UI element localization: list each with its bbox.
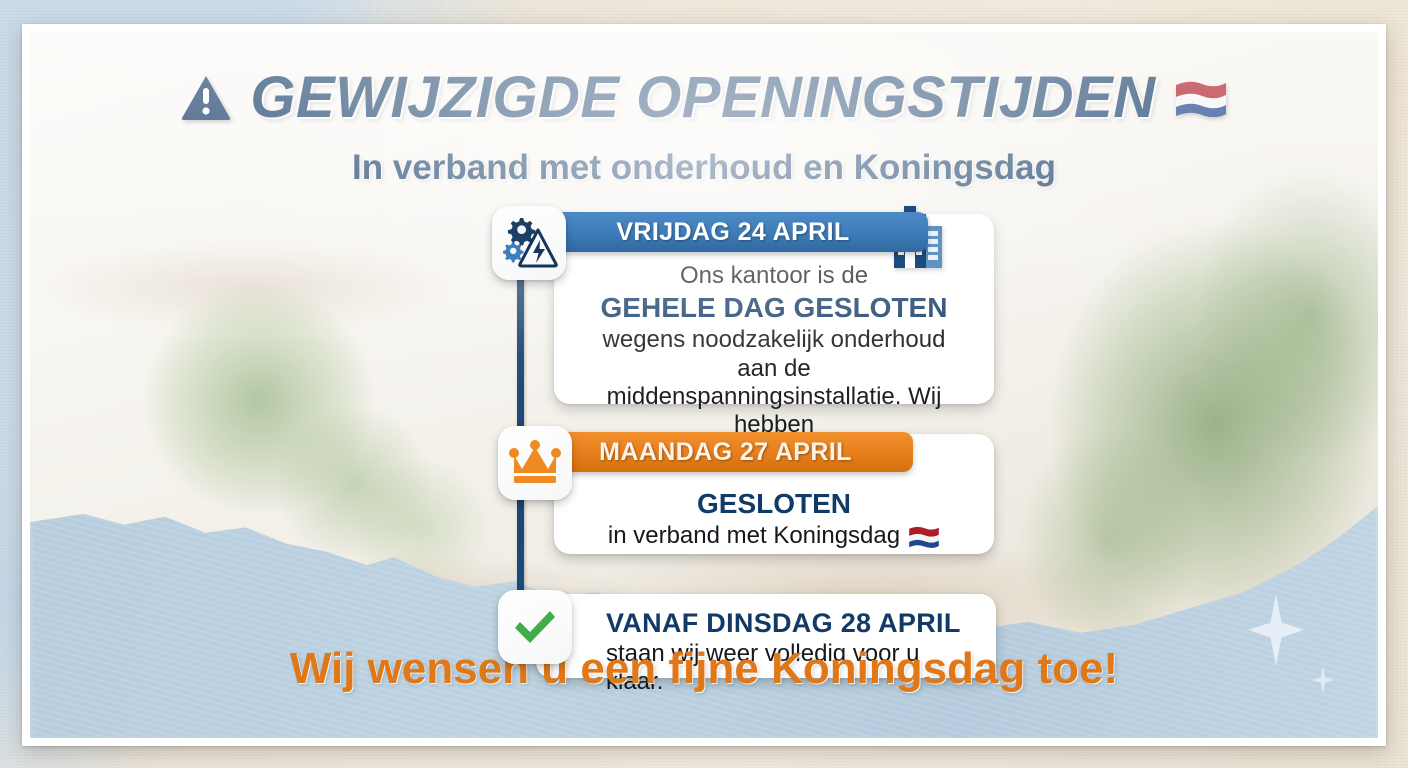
page-title-text: GEWIJZIGDE OPENINGSTIJDEN	[250, 64, 1155, 131]
green-check-icon	[509, 601, 561, 653]
card-line-with-flag: in verband met Koningsdag	[586, 522, 962, 550]
card-line: middenspanningsinstallatie. Wij hebben	[586, 383, 962, 439]
badge-monday	[498, 426, 572, 500]
page-subtitle: In verband met onderhoud en Koningsdag	[30, 148, 1378, 188]
badge-tuesday	[498, 590, 572, 664]
card-line: GESLOTEN	[586, 486, 962, 522]
card-header-friday-label: VRIJDAG 24 APRIL	[616, 218, 849, 247]
netherlands-flag-icon	[908, 525, 940, 548]
card-line: GEHELE DAG GESLOTEN	[586, 290, 962, 326]
footer-message: Wij wensen u een fijne Koningsdag toe!	[30, 644, 1378, 694]
badge-friday	[492, 206, 566, 280]
gears-high-voltage-icon	[500, 214, 558, 272]
card-body-monday: GESLOTEN in verband met Koningsdag	[564, 486, 984, 550]
card-line: VANAF DINSDAG 28 APRIL	[606, 608, 962, 640]
card-header-friday: VRIJDAG 24 APRIL	[538, 212, 928, 252]
warning-triangle-icon	[180, 74, 232, 122]
poster-root: GEWIJZIGDE OPENINGSTIJDEN In verband met…	[0, 0, 1408, 768]
netherlands-flag-icon	[1174, 79, 1228, 117]
crown-icon	[508, 439, 562, 487]
card-header-monday: MAANDAG 27 APRIL	[538, 432, 913, 472]
poster-frame: GEWIJZIGDE OPENINGSTIJDEN In verband met…	[22, 24, 1386, 746]
card-line: in verband met Koningsdag	[608, 522, 900, 550]
card-header-monday-label: MAANDAG 27 APRIL	[599, 438, 852, 467]
page-title: GEWIJZIGDE OPENINGSTIJDEN	[30, 64, 1378, 131]
card-line: wegens noodzakelijk onderhoud aan de	[586, 326, 962, 382]
background-photo: GEWIJZIGDE OPENINGSTIJDEN In verband met…	[30, 32, 1378, 738]
